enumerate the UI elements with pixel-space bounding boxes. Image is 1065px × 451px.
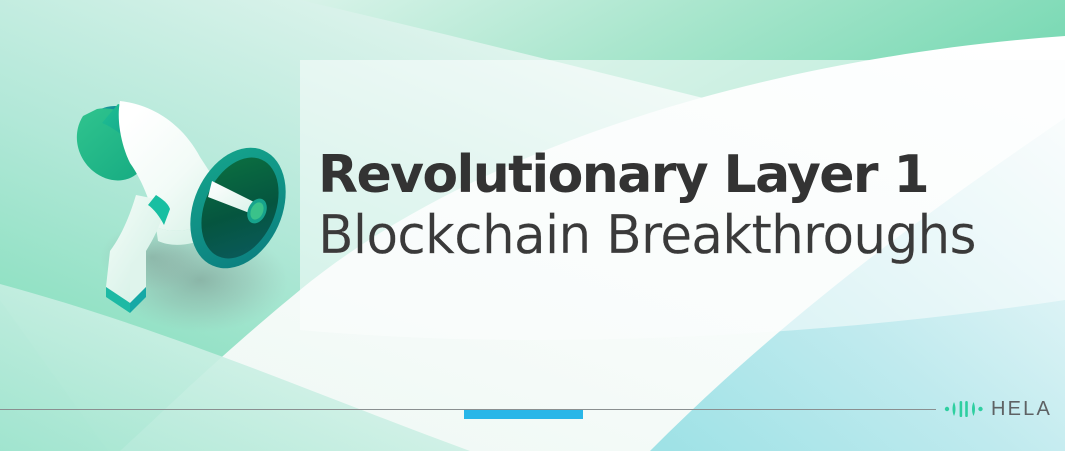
megaphone-illustration: [60, 75, 330, 365]
megaphone-icon: [60, 75, 330, 365]
hela-logo-mark-icon: [944, 398, 984, 420]
divider-accent-bar: [464, 410, 583, 419]
brand-name: HELA: [991, 399, 1052, 419]
brand-logo[interactable]: HELA: [944, 397, 1052, 421]
promo-banner: Revolutionary Layer 1 Blockchain Breakth…: [0, 0, 1065, 451]
headline-secondary: Blockchain Breakthroughs: [318, 204, 1018, 267]
headline-block: Revolutionary Layer 1 Blockchain Breakth…: [318, 146, 1018, 266]
headline-primary: Revolutionary Layer 1: [318, 146, 1018, 204]
